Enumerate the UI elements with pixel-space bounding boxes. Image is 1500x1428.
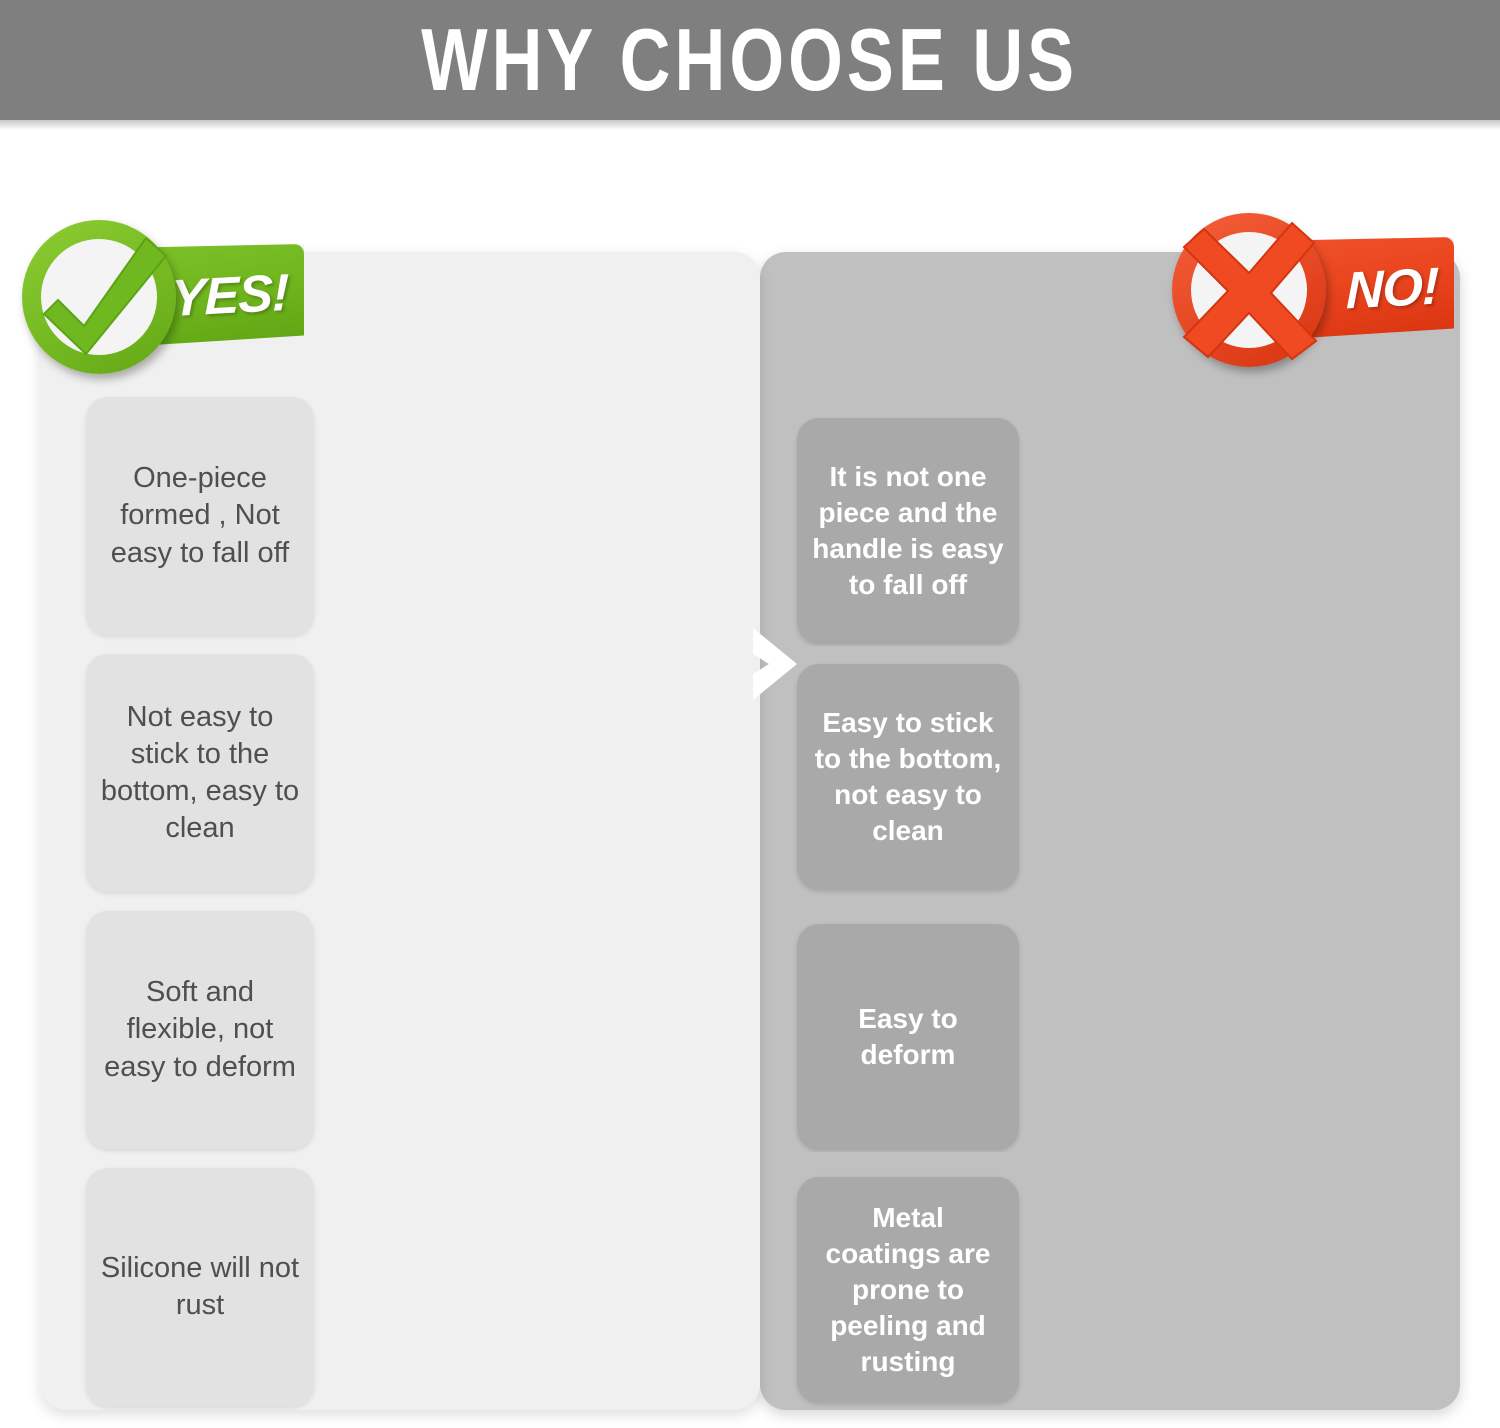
yes-badge: YES! xyxy=(18,212,308,382)
header-banner: WHY CHOOSE US xyxy=(0,0,1500,120)
feature-label: Metal coatings are prone to peeling and … xyxy=(797,1177,1019,1403)
feature-label: It is not one piece and the handle is ea… xyxy=(797,418,1019,644)
feature-label: Soft and flexible, not easy to deform xyxy=(86,911,314,1149)
check-mark-icon xyxy=(22,220,176,374)
header-shadow xyxy=(0,120,1500,130)
no-label: NO! xyxy=(1346,261,1438,318)
yes-label: YES! xyxy=(171,267,288,325)
x-mark-icon xyxy=(1172,213,1326,367)
feature-label: One-piece formed , Not easy to fall off xyxy=(86,397,314,635)
page-title: WHY CHOOSE US xyxy=(422,16,1079,104)
feature-label: Easy to deform xyxy=(797,924,1019,1150)
chevron-right-icon xyxy=(753,628,797,700)
feature-label: Not easy to stick to the bottom, easy to… xyxy=(86,654,314,892)
feature-label: Silicone will not rust xyxy=(86,1168,314,1406)
no-badge: NO! xyxy=(1168,205,1458,375)
feature-label: Easy to stick to the bottom, not easy to… xyxy=(797,664,1019,890)
